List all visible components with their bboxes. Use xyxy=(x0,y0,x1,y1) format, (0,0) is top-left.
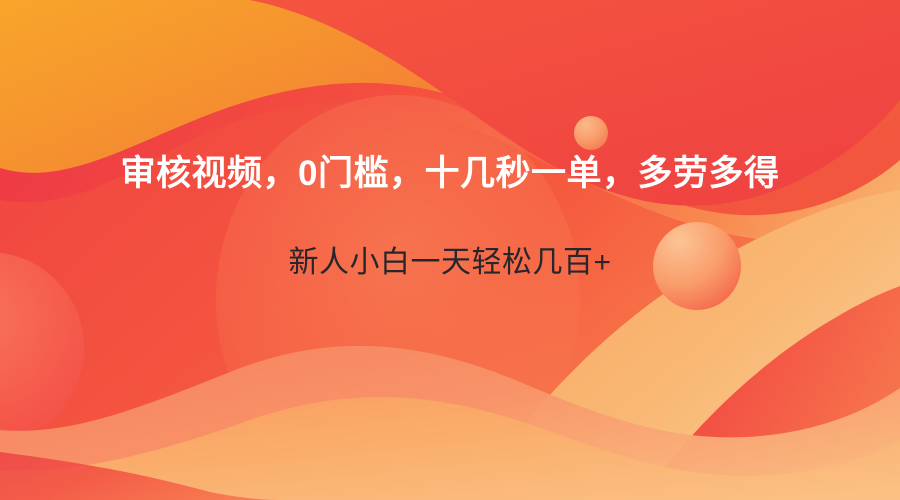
circle-accent-small xyxy=(574,116,608,150)
decorative-background xyxy=(0,0,900,500)
promo-banner: 审核视频，0门槛，十几秒一单，多劳多得 新人小白一天轻松几百+ xyxy=(0,0,900,500)
circle-accent-large xyxy=(653,222,741,310)
